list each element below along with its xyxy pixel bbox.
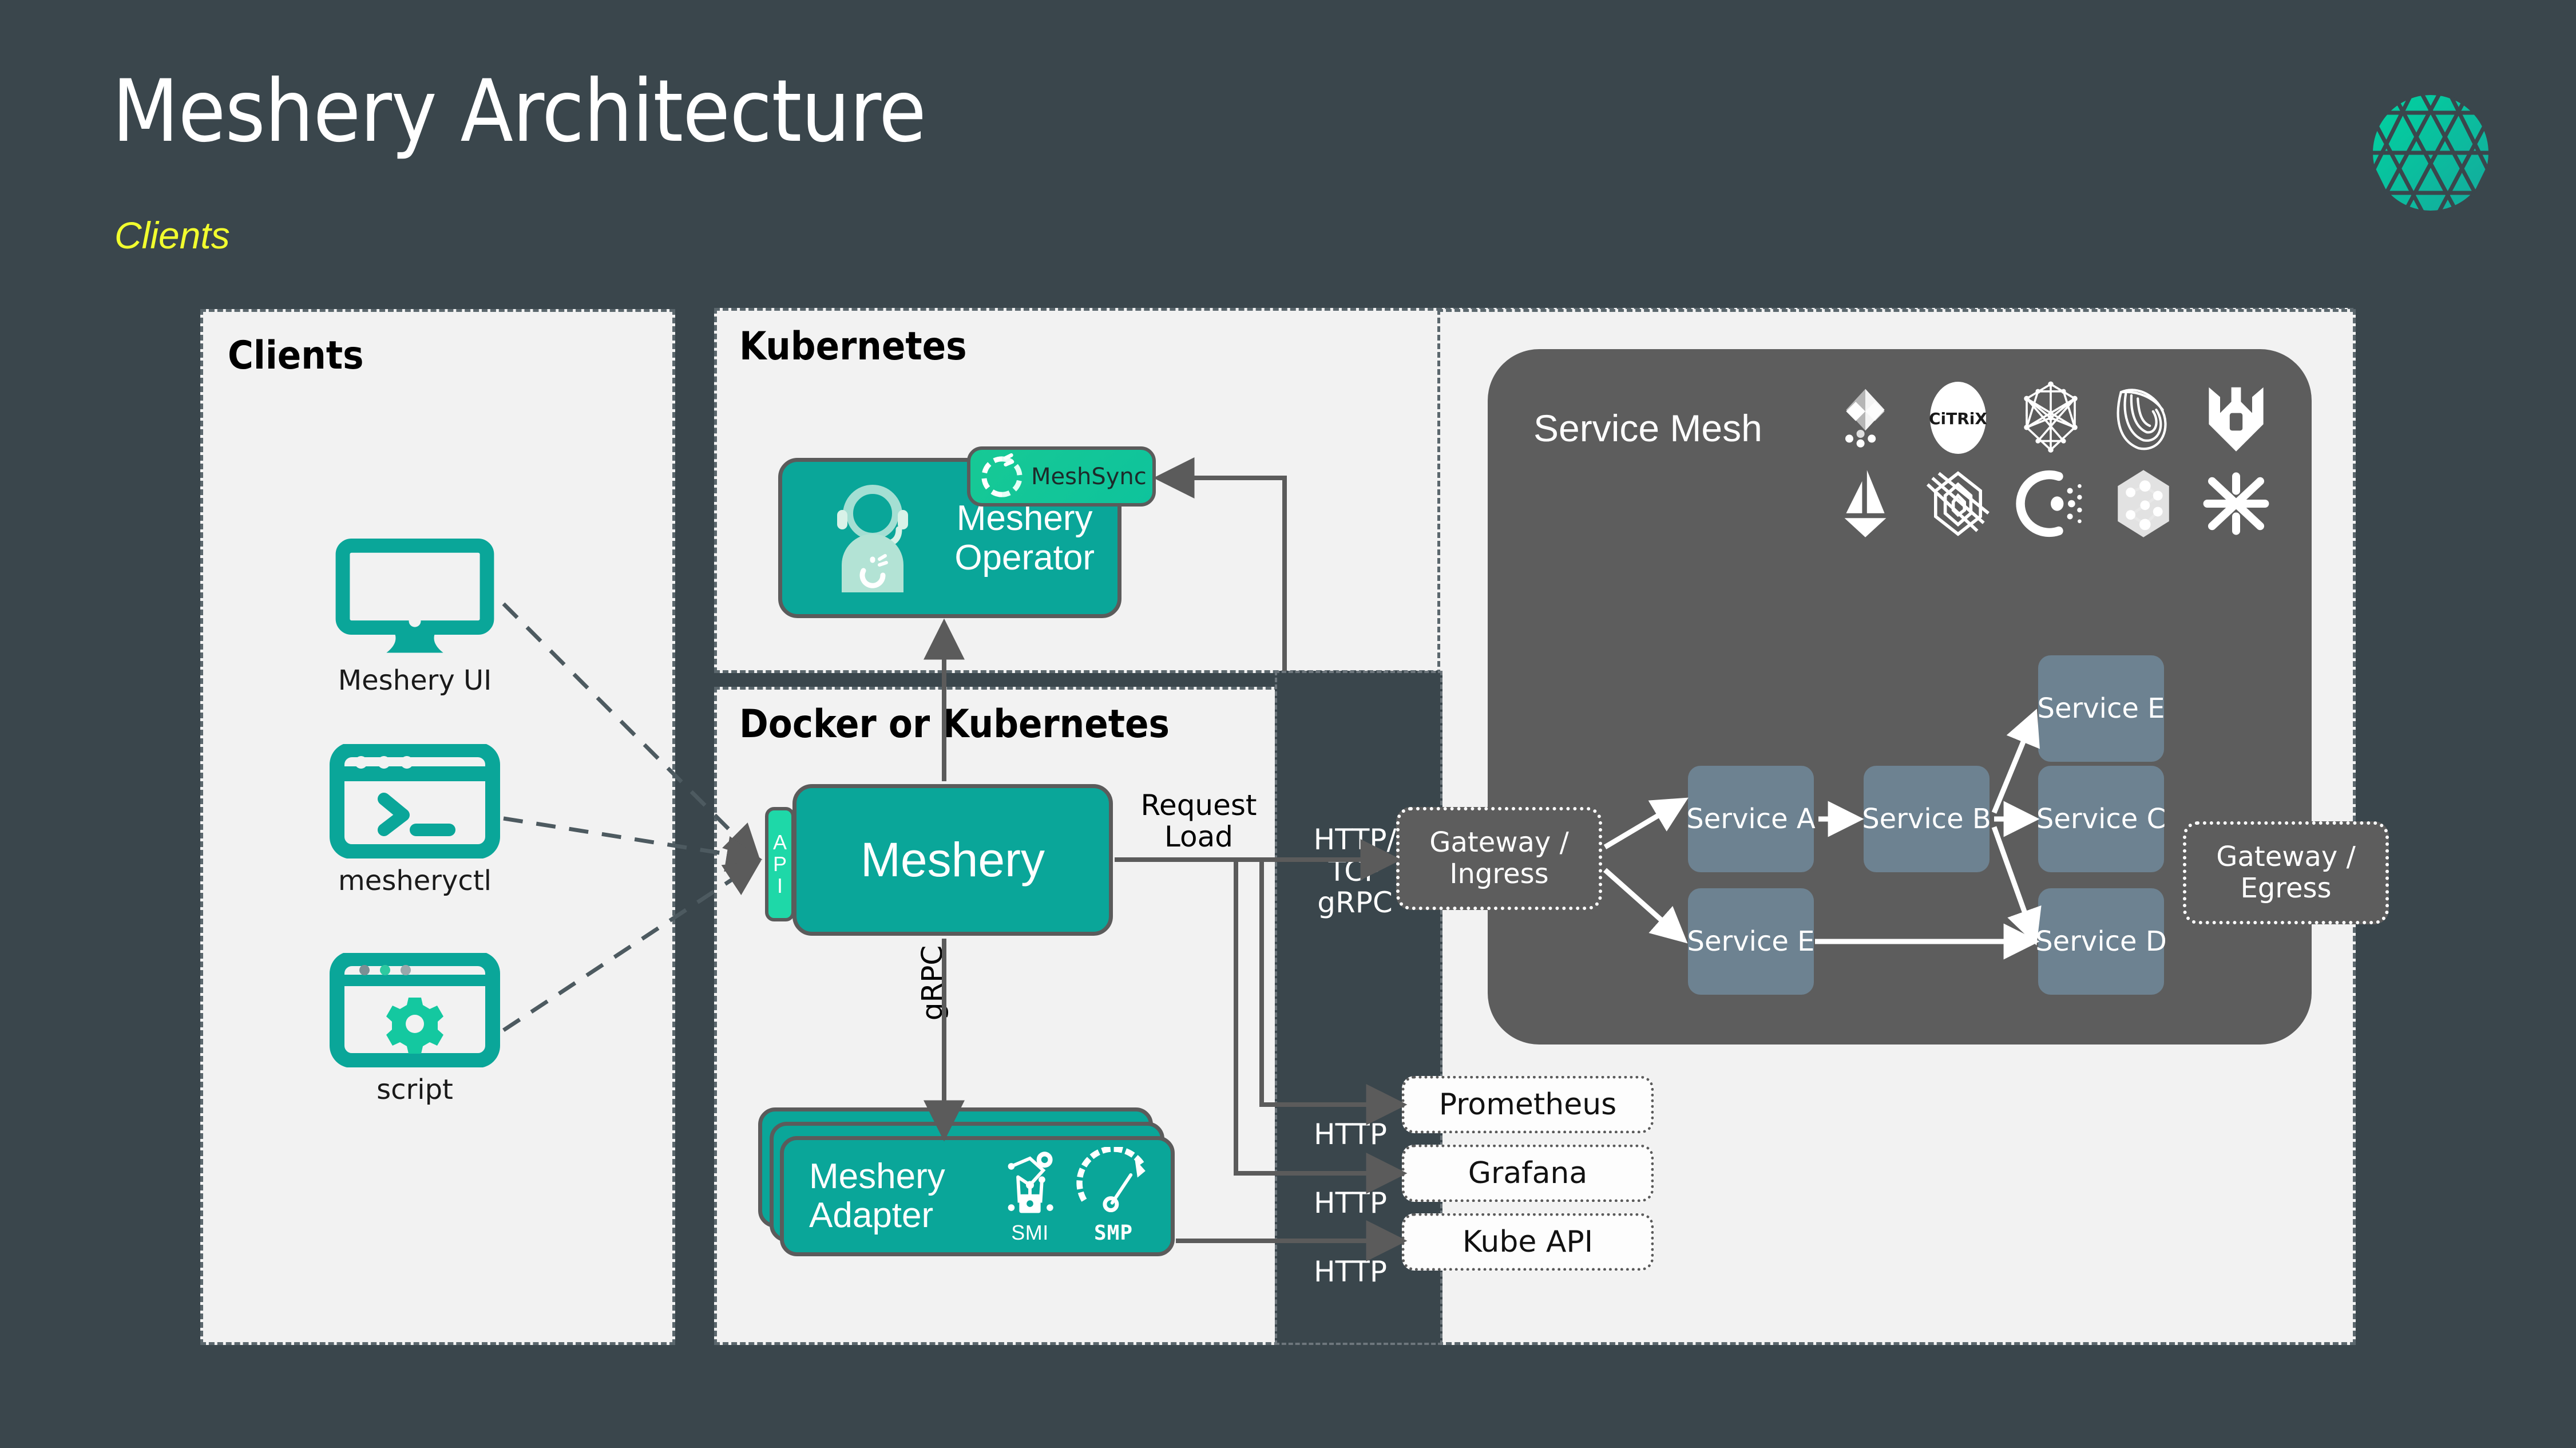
- gateway-ingress: Gateway / Ingress: [1396, 807, 1602, 910]
- istio-icon: [1825, 464, 1905, 544]
- linkerd-icon: [2011, 464, 2091, 544]
- headset-operator-icon: [815, 472, 930, 601]
- meshery-api-tab[interactable]: A P I: [765, 807, 795, 921]
- service-mesh-title: Service Mesh: [1533, 406, 1762, 450]
- panel-docker-title: Docker or Kubernetes: [739, 702, 1170, 747]
- mesh-logo-row-1: CiTRiX: [1825, 375, 2294, 461]
- consul-icon: [2011, 378, 2091, 458]
- meshery-operator-label: Meshery Operator: [954, 499, 1095, 578]
- service-box-e-right: Service E: [2038, 655, 2164, 762]
- smi-logo: SMI: [996, 1146, 1064, 1245]
- sync-circle-icon: [978, 453, 1025, 500]
- terminal-prompt-icon: [329, 744, 501, 858]
- service-mesh-logo-grid: CiTRiX: [1825, 375, 2294, 547]
- grafana-box: Grafana: [1402, 1145, 1654, 1202]
- monitor-icon: [329, 538, 501, 658]
- edge-label-http-2: HTTP: [1299, 1188, 1402, 1219]
- open-service-mesh-icon: [2196, 464, 2276, 544]
- client-script[interactable]: script: [329, 953, 501, 1106]
- network-service-mesh-icon: [2103, 464, 2183, 544]
- api-tab-letter-a: A: [773, 832, 787, 853]
- mesh-logo-row-2: [1825, 461, 2294, 547]
- panel-clients-title: Clients: [228, 333, 364, 378]
- client-label: Meshery UI: [329, 664, 501, 697]
- edge-label-request-load: Request Load: [1133, 790, 1265, 853]
- client-mesheryctl[interactable]: mesheryctl: [329, 744, 501, 897]
- api-tab-letter-i: I: [777, 875, 783, 897]
- api-tab-letter-p: P: [773, 853, 787, 875]
- service-box-a: Service A: [1688, 766, 1814, 872]
- meshery-node: Meshery: [792, 784, 1113, 936]
- page-title: Meshery Architecture: [112, 69, 926, 155]
- kube-api-box: Kube API: [1402, 1213, 1654, 1271]
- edge-label-grpc: gRPC: [917, 926, 949, 1040]
- smp-caption: SMP: [1094, 1221, 1133, 1245]
- meshsync-badge: MeshSync: [967, 446, 1156, 507]
- smi-nodes-icon: [996, 1146, 1064, 1220]
- cilium-icon: [1918, 464, 1998, 544]
- meshery-logo-icon: [2371, 93, 2491, 213]
- app-mesh-icon: [1825, 378, 1905, 458]
- kuma-icon: [2103, 378, 2183, 458]
- meshery-adapter-label: Meshery Adapter: [809, 1157, 945, 1235]
- edge-label-http-1: HTTP: [1299, 1119, 1402, 1150]
- window-gear-icon: [329, 953, 501, 1067]
- client-label: mesheryctl: [329, 865, 501, 897]
- edge-label-http-3: HTTP: [1299, 1256, 1402, 1288]
- service-box-d: Service D: [2038, 888, 2164, 995]
- smi-caption: SMI: [1011, 1221, 1049, 1245]
- edge-label-http-tcp-grpc: HTTP/ TCP gRPC: [1292, 824, 1418, 919]
- meshsync-label: MeshSync: [1031, 464, 1147, 490]
- service-box-e-left: Service E: [1688, 888, 1814, 995]
- smp-logo: SMP: [1073, 1147, 1154, 1245]
- slide: Meshery Architecture Clients Clients Ku: [0, 0, 2576, 1448]
- adapter-logo-group: SMI SMP: [996, 1150, 1162, 1245]
- client-meshery-ui[interactable]: Meshery UI: [329, 538, 501, 697]
- nginx-icon: [2196, 378, 2276, 458]
- citrix-icon: CiTRiX: [1918, 378, 1998, 458]
- client-label: script: [329, 1074, 501, 1106]
- prometheus-box: Prometheus: [1402, 1076, 1654, 1133]
- gateway-egress: Gateway / Egress: [2183, 821, 2389, 924]
- panel-kubernetes-title: Kubernetes: [739, 324, 967, 369]
- smp-gauge-icon: [1073, 1147, 1154, 1220]
- citrix-wordmark: CiTRiX: [1929, 409, 1987, 428]
- service-box-b: Service B: [1864, 766, 1990, 872]
- page-subtitle: Clients: [114, 216, 230, 254]
- service-box-c: Service C: [2038, 766, 2164, 872]
